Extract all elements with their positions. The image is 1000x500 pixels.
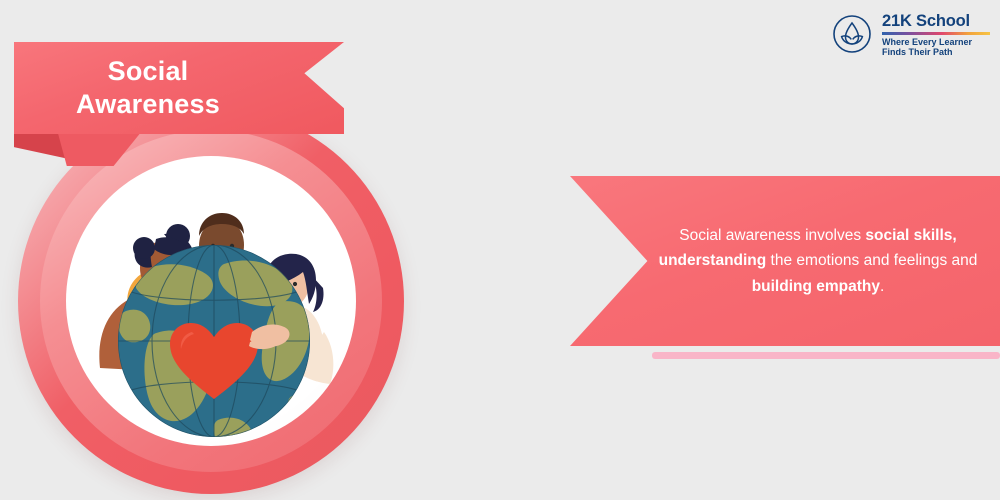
brand-tagline: Where Every Learner Finds Their Path (882, 37, 994, 58)
page-title-line2: Awareness (76, 88, 220, 121)
brand-name: 21K School (882, 11, 994, 31)
description-segment-4: . (880, 278, 884, 295)
page-title: Social Awareness (14, 42, 282, 134)
description-segment-3: building empathy (752, 278, 880, 295)
description-text: Social awareness involves social skills,… (648, 176, 988, 346)
lotus-circle-icon (832, 14, 872, 54)
page-title-line1: Social (108, 55, 189, 88)
description-segment-0: Social awareness involves (679, 227, 865, 244)
brand-logo[interactable]: 21K School Where Every Learner Finds The… (832, 11, 992, 57)
accent-bar (652, 352, 1000, 359)
brand-tagline-line1: Where Every Learner (882, 37, 994, 48)
brand-tagline-line2: Finds Their Path (882, 47, 994, 58)
poster-canvas: Social Awareness Social awareness involv… (0, 0, 1000, 500)
description-segment-2: the emotions and feelings and (766, 252, 977, 269)
brand-text-block: 21K School Where Every Learner Finds The… (882, 11, 994, 58)
brand-underline-gradient (882, 32, 990, 35)
globe-with-people-and-heart-illustration (66, 156, 356, 446)
